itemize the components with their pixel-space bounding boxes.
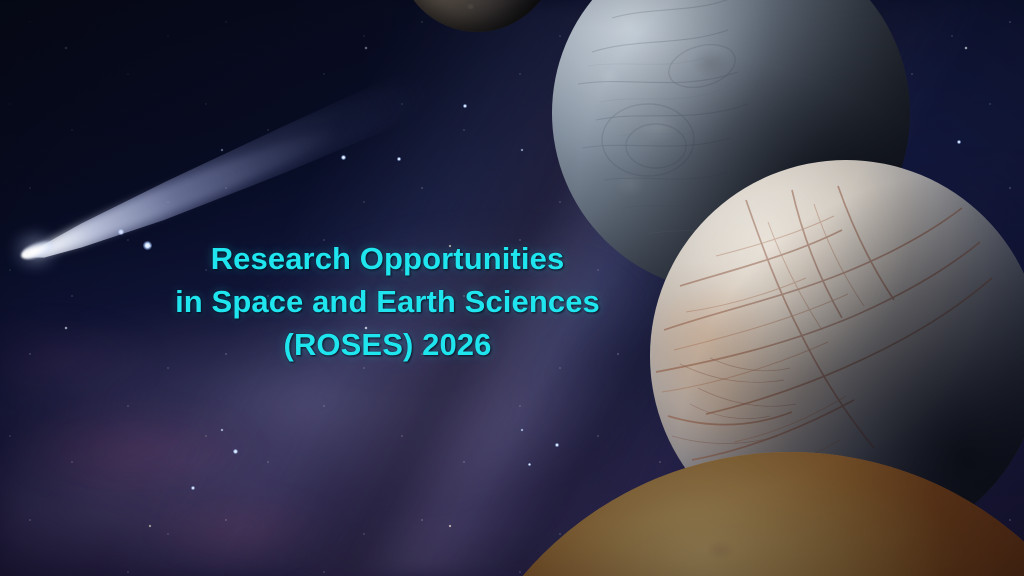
bright-star — [957, 140, 961, 144]
bright-star — [341, 155, 346, 160]
bright-star — [118, 229, 124, 235]
title-line-1: Research Opportunities — [0, 238, 775, 281]
mars-terminator — [440, 452, 1024, 576]
roses-2026-title-slide: Research Opportunities in Space and Eart… — [0, 0, 1024, 576]
title-line-3: (ROSES) 2026 — [0, 324, 775, 367]
planet-mars — [440, 452, 1024, 576]
bright-star — [397, 157, 401, 161]
crater-texture — [398, 0, 556, 32]
slide-title: Research Opportunities in Space and Eart… — [0, 238, 775, 366]
bright-star — [191, 486, 195, 490]
bright-star — [555, 443, 559, 447]
planet-dark-moon — [398, 0, 556, 32]
title-line-2: in Space and Earth Sciences — [0, 281, 775, 324]
bright-star — [463, 104, 467, 108]
bright-star — [233, 449, 238, 454]
